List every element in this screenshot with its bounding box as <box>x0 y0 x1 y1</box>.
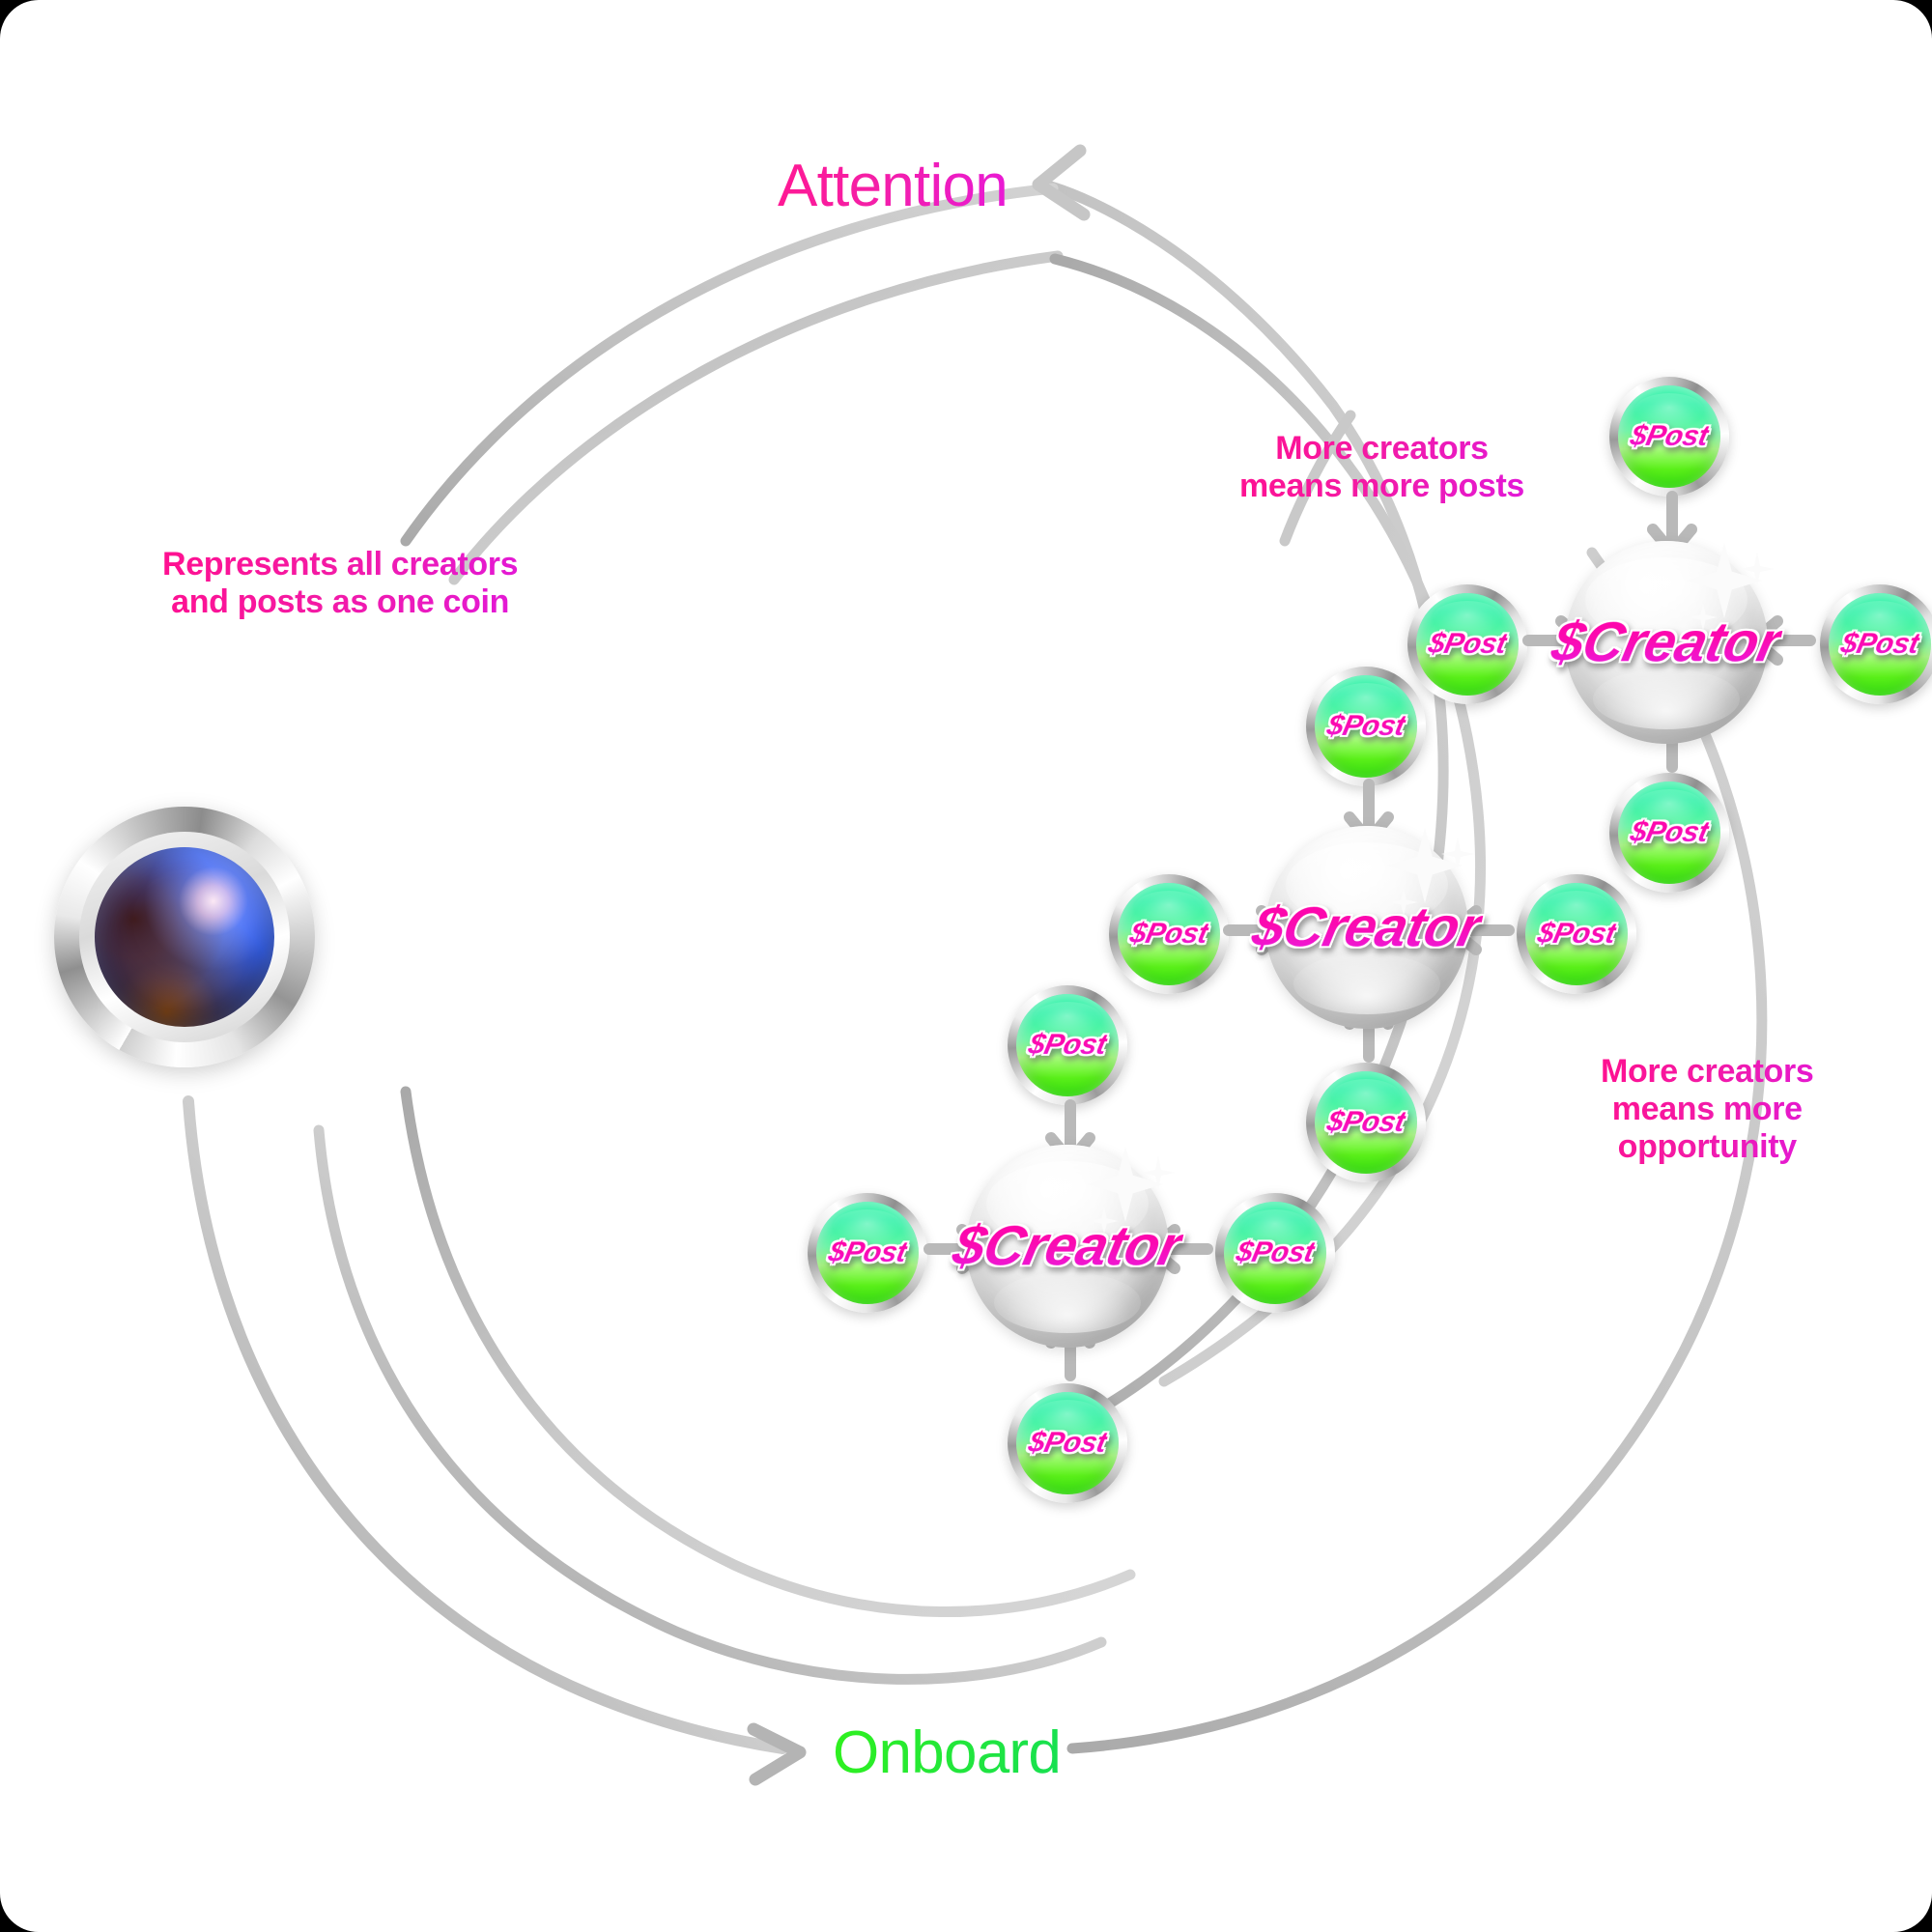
index-coin[interactable] <box>54 807 315 1067</box>
note-more-creators-more-opportunity: More creators means more opportunity <box>1601 1053 1813 1165</box>
post-label: $Post <box>1535 918 1619 951</box>
note-represents-all-creators: Represents all creators and posts as one… <box>162 546 518 621</box>
creator-coin[interactable]: $Creator <box>966 1145 1169 1348</box>
post-coin[interactable]: $Post <box>1517 874 1636 994</box>
post-coin[interactable]: $Post <box>1306 667 1426 786</box>
diagram-canvas: Attention Onboard Represents all creator… <box>0 0 1932 1932</box>
label-onboard: Onboard <box>833 1721 1061 1786</box>
post-label: $Post <box>1324 710 1408 743</box>
post-coin[interactable]: $Post <box>1609 377 1729 497</box>
post-coin[interactable]: $Post <box>1109 874 1229 994</box>
creator-label: $Creator <box>1547 611 1787 675</box>
orb-sphere <box>95 847 274 1027</box>
post-label: $Post <box>1628 816 1712 849</box>
post-label: $Post <box>1324 1106 1408 1139</box>
post-label: $Post <box>1026 1029 1110 1062</box>
post-coin[interactable]: $Post <box>808 1193 927 1313</box>
creator-lower-highlight <box>994 1272 1140 1333</box>
creator-label: $Creator <box>1247 895 1488 960</box>
post-label: $Post <box>1426 628 1510 661</box>
post-label: $Post <box>1628 420 1712 453</box>
post-coin[interactable]: $Post <box>1820 584 1932 704</box>
post-coin[interactable]: $Post <box>1609 773 1729 893</box>
post-coin[interactable]: $Post <box>1215 1193 1335 1313</box>
creator-label: $Creator <box>948 1214 1188 1279</box>
post-label: $Post <box>826 1236 910 1269</box>
creator-lower-highlight <box>1293 953 1439 1014</box>
label-attention: Attention <box>778 155 1008 219</box>
creator-lower-highlight <box>1593 668 1739 729</box>
post-coin[interactable]: $Post <box>1407 584 1527 704</box>
post-label: $Post <box>1234 1236 1318 1269</box>
post-label: $Post <box>1127 918 1211 951</box>
post-label: $Post <box>1026 1427 1110 1460</box>
note-more-creators-more-posts: More creators means more posts <box>1239 430 1524 505</box>
post-coin[interactable]: $Post <box>1306 1063 1426 1182</box>
creator-coin[interactable]: $Creator <box>1265 826 1468 1029</box>
creator-coin[interactable]: $Creator <box>1565 541 1768 744</box>
post-label: $Post <box>1838 628 1922 661</box>
post-coin[interactable]: $Post <box>1008 1383 1127 1503</box>
post-coin[interactable]: $Post <box>1008 985 1127 1105</box>
